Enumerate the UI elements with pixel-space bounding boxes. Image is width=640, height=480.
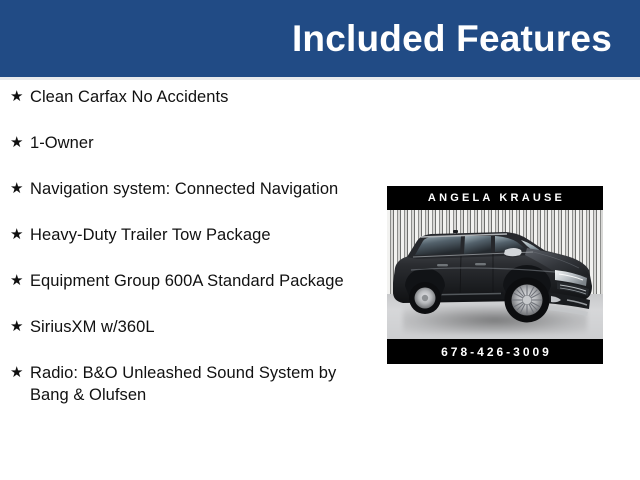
list-item: ★ Heavy-Duty Trailer Tow Package: [0, 224, 376, 246]
feature-label: Radio: B&O Unleashed Sound System by Ban…: [30, 362, 376, 406]
dealer-name-label: ANGELA KRAUSE: [425, 192, 565, 204]
list-item: ★ Equipment Group 600A Standard Package: [0, 270, 376, 292]
included-features-list: ★ Clean Carfax No Accidents ★ 1-Owner ★ …: [0, 86, 376, 406]
star-bullet-icon: ★: [10, 362, 30, 384]
star-bullet-icon: ★: [10, 132, 30, 154]
dealer-vehicle-photo[interactable]: ANGELA KRAUSE: [387, 186, 603, 364]
feature-label: SiriusXM w/360L: [30, 316, 376, 338]
content-area: ★ Clean Carfax No Accidents ★ 1-Owner ★ …: [0, 80, 640, 480]
list-item: ★ Navigation system: Connected Navigatio…: [0, 178, 376, 200]
feature-label: Equipment Group 600A Standard Package: [30, 270, 376, 292]
page-title: Included Features: [292, 20, 640, 57]
list-item: ★ Clean Carfax No Accidents: [0, 86, 376, 108]
list-item: ★ 1-Owner: [0, 132, 376, 154]
list-item: ★ Radio: B&O Unleashed Sound System by B…: [0, 362, 376, 406]
list-item: ★ SiriusXM w/360L: [0, 316, 376, 338]
suv-vehicle-icon: [387, 210, 603, 339]
star-bullet-icon: ★: [10, 86, 30, 108]
star-bullet-icon: ★: [10, 270, 30, 292]
vehicle-photo-scene: [387, 210, 603, 339]
feature-label: Navigation system: Connected Navigation: [30, 178, 376, 200]
star-bullet-icon: ★: [10, 316, 30, 338]
star-bullet-icon: ★: [10, 178, 30, 200]
star-bullet-icon: ★: [10, 224, 30, 246]
dealer-name-bar: ANGELA KRAUSE: [387, 186, 603, 210]
dealer-phone-label: 678-426-3009: [438, 345, 552, 359]
dealer-phone-bar: 678-426-3009: [387, 339, 603, 364]
page-header: Included Features: [0, 0, 640, 77]
feature-label: Clean Carfax No Accidents: [30, 86, 376, 108]
feature-label: 1-Owner: [30, 132, 376, 154]
feature-label: Heavy-Duty Trailer Tow Package: [30, 224, 376, 246]
